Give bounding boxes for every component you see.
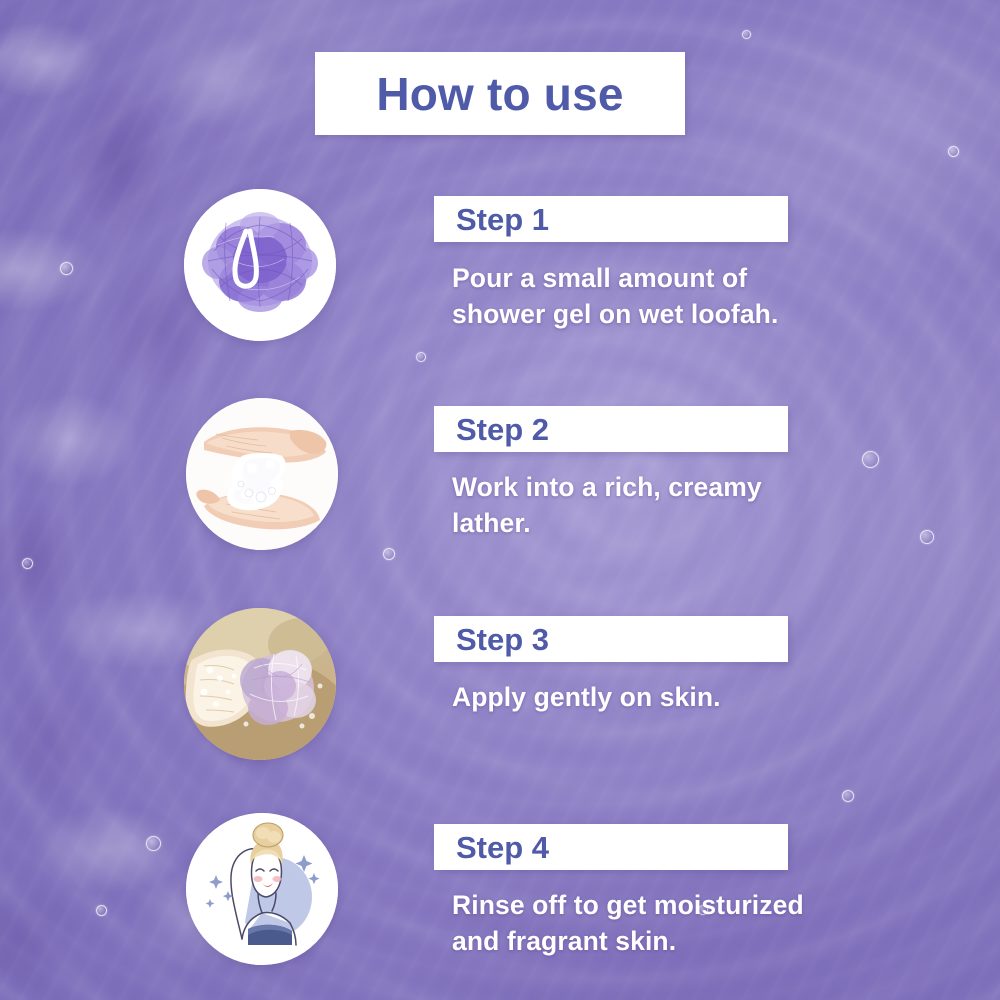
loofah-sponge-icon — [184, 189, 336, 341]
step-4-label: Step 4 — [434, 832, 549, 863]
step-4-body: Rinse off to get moisturized and fragran… — [452, 888, 852, 959]
step-1-body: Pour a small amount of shower gel on wet… — [452, 261, 832, 332]
page-title-panel: How to use — [315, 52, 685, 135]
step-3-label: Step 3 — [434, 624, 549, 655]
step-4-image — [186, 813, 338, 965]
step-2-body: Work into a rich, creamy lather. — [452, 470, 832, 541]
step-3-image — [184, 608, 336, 760]
bubble-icon — [920, 530, 934, 544]
bubble-icon — [383, 548, 395, 560]
bubble-icon — [60, 262, 73, 275]
page-title: How to use — [376, 71, 623, 117]
step-2-label-panel: Step 2 — [434, 406, 788, 452]
woman-smooth-skin-icon — [186, 813, 338, 965]
step-2-image — [186, 398, 338, 550]
bubble-icon — [22, 558, 33, 569]
bubble-icon — [948, 146, 959, 157]
hands-lather-icon — [186, 398, 338, 550]
step-4-label-panel: Step 4 — [434, 824, 788, 870]
step-1-label: Step 1 — [434, 204, 549, 235]
loofah-in-hand-icon — [184, 608, 336, 760]
bubble-icon — [416, 352, 426, 362]
bubble-icon — [96, 905, 107, 916]
bubble-icon — [742, 30, 751, 39]
how-to-use-poster: How to use — [0, 0, 1000, 1000]
step-1-image — [184, 189, 336, 341]
step-2-label: Step 2 — [434, 414, 549, 445]
bubble-icon — [862, 451, 879, 468]
bubble-icon — [842, 790, 854, 802]
step-3-label-panel: Step 3 — [434, 616, 788, 662]
step-3-body: Apply gently on skin. — [452, 680, 832, 716]
bubble-icon — [146, 836, 161, 851]
step-1-label-panel: Step 1 — [434, 196, 788, 242]
